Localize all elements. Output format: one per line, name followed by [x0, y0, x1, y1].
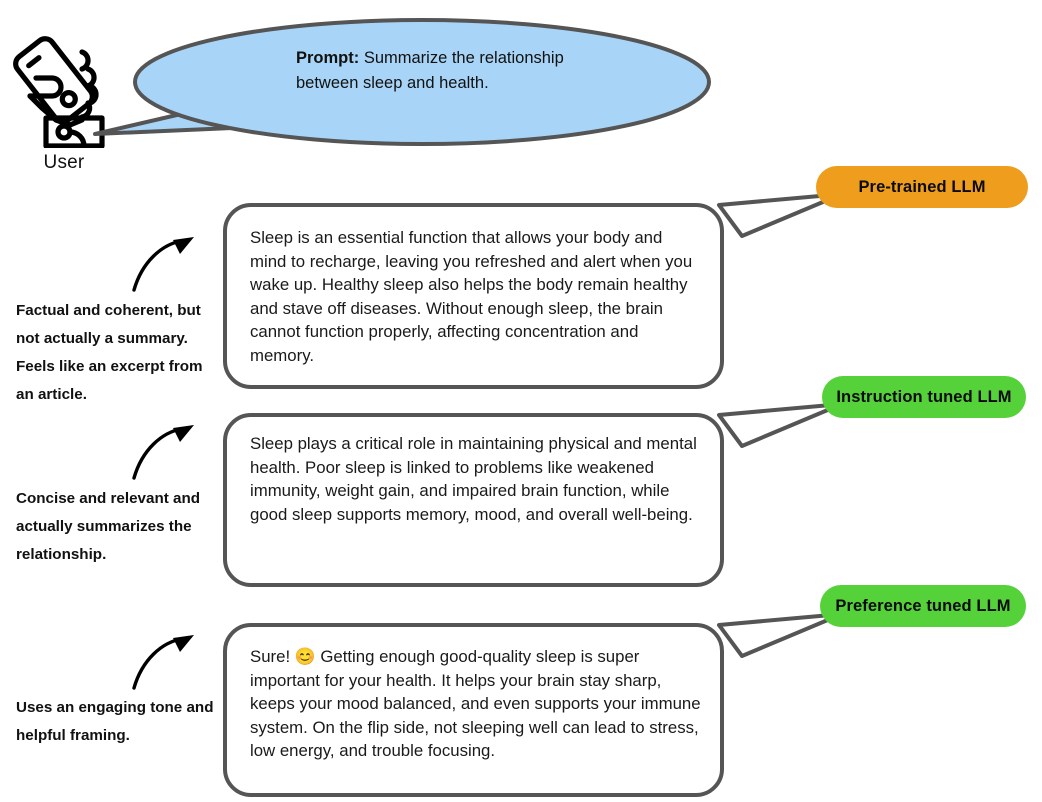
annotation-text: Uses an engaging tone and helpful framin… — [16, 694, 221, 750]
response-text: Sleep plays a critical role in maintaini… — [250, 432, 702, 526]
annotation-text: Concise and relevant and actually summar… — [16, 485, 221, 569]
curved-arrow-icon — [128, 232, 208, 294]
annotation-text: Factual and coherent, but not actually a… — [16, 297, 221, 409]
prompt-text-block: Prompt: Summarize the relationship betwe… — [296, 46, 626, 96]
response-text: Sleep is an essential function that allo… — [250, 226, 702, 367]
curved-arrow-icon — [128, 630, 208, 692]
model-label-preference-tuned[interactable]: Preference tuned LLM — [820, 585, 1026, 627]
curved-arrow-icon — [128, 420, 208, 482]
model-label-pre-trained[interactable]: Pre-trained LLM — [816, 166, 1028, 208]
model-label-instruction-tuned[interactable]: Instruction tuned LLM — [822, 376, 1026, 418]
prompt-label: Prompt: — [296, 49, 359, 67]
diagram-canvas: User Prompt: Summarize the relationship … — [0, 0, 1042, 802]
response-text: Sure! 😊 Getting enough good-quality slee… — [250, 645, 702, 763]
